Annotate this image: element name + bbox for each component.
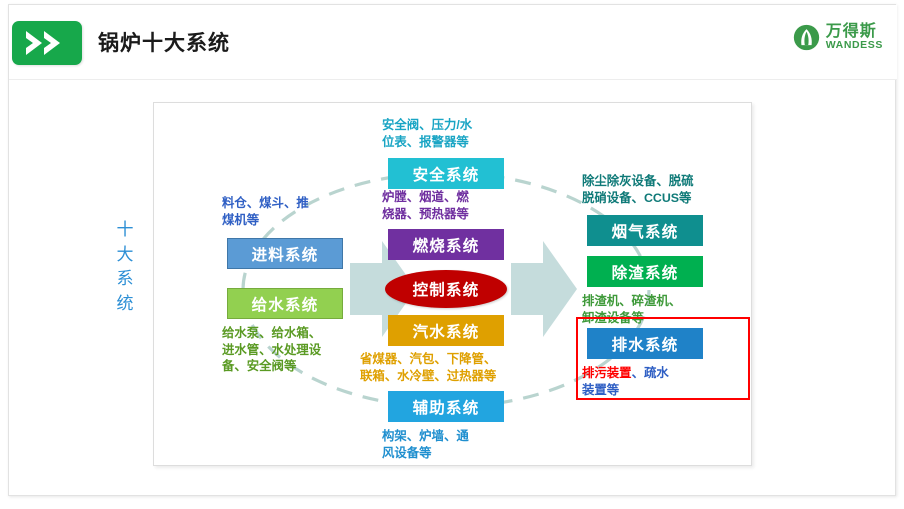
node-steam-water-system[interactable]: 汽水系统 <box>388 315 504 346</box>
logo-text-en: WANDESS <box>826 40 883 51</box>
slide-header: 锅炉十大系统 万得斯 WANDESS <box>9 5 897 79</box>
caption-auxiliary-system: 构架、炉墙、通 风设备等 <box>382 428 512 461</box>
brand-logo: 万得斯 WANDESS <box>793 16 883 58</box>
logo-text-cn: 万得斯 <box>826 24 883 40</box>
caption-safety-system: 安全阀、压力/水 位表、报警器等 <box>382 117 514 150</box>
node-feed-system[interactable]: 进料系统 <box>227 238 343 269</box>
wandess-plant-logo-icon <box>793 24 820 51</box>
node-auxiliary-system[interactable]: 辅助系统 <box>388 391 504 422</box>
side-label-char-0: 十 <box>112 218 138 243</box>
diagram-panel: 料仓、煤斗、推 煤机等 进料系统 给水系统 给水泵、给水箱、 进水管、水处理设 … <box>153 102 752 466</box>
caption-combustion-system: 炉膛、烟道、燃 烧器、预热器等 <box>382 189 514 222</box>
node-slag-removal-system[interactable]: 除渣系统 <box>587 256 703 287</box>
caption-feed-system: 料仓、煤斗、推 煤机等 <box>222 195 350 228</box>
caption-steam-water-system: 省煤器、汽包、下降管、 联箱、水冷壁、过热器等 <box>360 351 528 384</box>
caption-drainage-red-part: 排污装置 <box>582 366 632 380</box>
node-water-supply-system[interactable]: 给水系统 <box>227 288 343 319</box>
node-combustion-system[interactable]: 燃烧系统 <box>388 229 504 260</box>
side-label-char-2: 系 <box>112 267 138 292</box>
double-chevron-right-icon <box>12 21 82 65</box>
side-label-char-1: 大 <box>112 243 138 268</box>
caption-water-supply-system: 给水泵、给水箱、 进水管、水处理设 备、安全阀等 <box>222 325 352 375</box>
header-divider <box>9 79 897 80</box>
node-drainage-system[interactable]: 排水系统 <box>587 328 703 359</box>
slide-canvas: 锅炉十大系统 万得斯 WANDESS 十 大 系 统 <box>8 4 896 496</box>
side-label-char-3: 统 <box>112 292 138 317</box>
caption-drainage-system: 排污装置、疏水 装置等 <box>582 365 710 398</box>
node-safety-system[interactable]: 安全系统 <box>388 158 504 189</box>
caption-flue-gas-system: 除尘除灰设备、脱硫 脱硝设备、CCUS等 <box>582 173 722 206</box>
side-label-ten-systems: 十 大 系 统 <box>112 218 138 317</box>
node-flue-gas-system[interactable]: 烟气系统 <box>587 215 703 246</box>
node-control-system[interactable]: 控制系统 <box>385 270 507 308</box>
flow-arrow-right-2 <box>511 241 577 337</box>
page-title: 锅炉十大系统 <box>98 27 230 57</box>
